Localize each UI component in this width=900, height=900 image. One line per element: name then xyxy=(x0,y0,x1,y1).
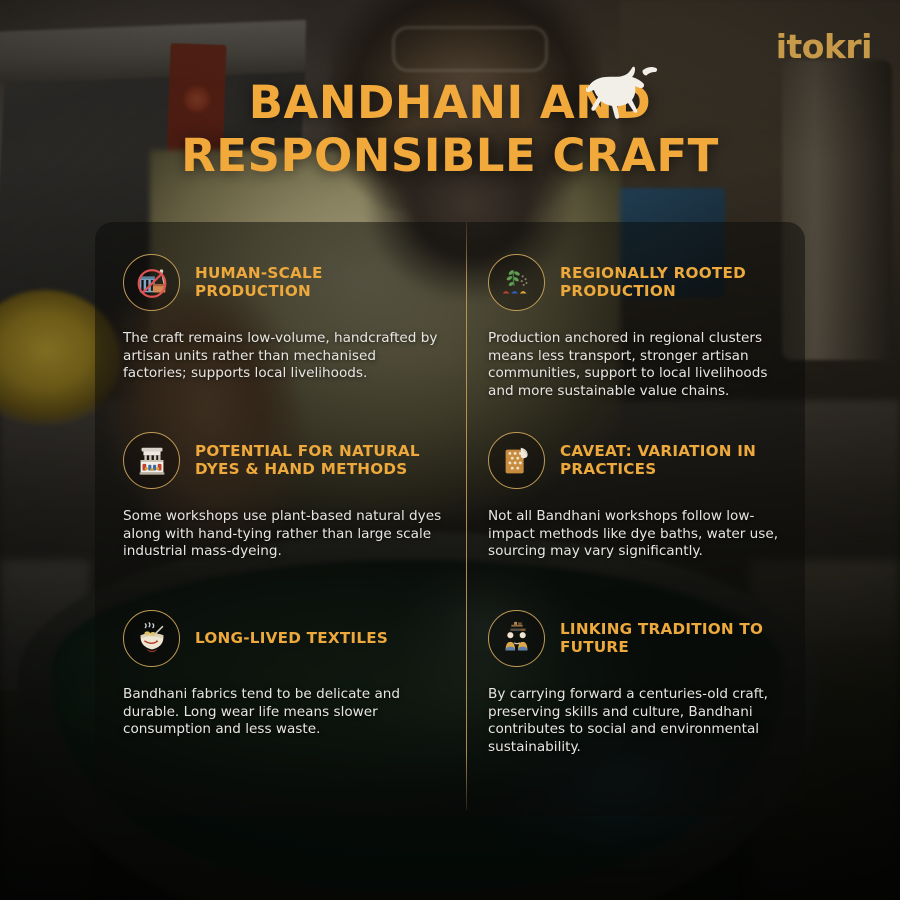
card-body: Not all Bandhani workshops follow low-im… xyxy=(488,508,785,561)
card-body: The craft remains low-volume, handcrafte… xyxy=(123,330,442,383)
page-title-line-1: BANDHANI AND xyxy=(249,76,652,129)
two-artisans-icon xyxy=(488,610,545,667)
card-header: LONG-LIVED TEXTILES xyxy=(123,610,442,667)
card-header: POTENTIAL FOR NATURAL DYES & HAND METHOD… xyxy=(123,432,442,489)
card-title: HUMAN-SCALE PRODUCTION xyxy=(195,265,442,301)
card-header: CAVEAT: VARIATION IN PRACTICES xyxy=(488,432,785,489)
card-body: Production anchored in regional clusters… xyxy=(488,330,785,401)
page-title-text: BANDHANI AND RESPONSIBLE CRAFT xyxy=(120,76,780,182)
brand-logo-text: itokri xyxy=(776,27,872,66)
card-long-lived-textiles[interactable]: LONG-LIVED TEXTILES Bandhani fabrics ten… xyxy=(95,578,466,816)
card-header: HUMAN-SCALE PRODUCTION xyxy=(123,254,442,311)
card-regionally-rooted-production[interactable]: REGIONALLY ROOTED PRODUCTION Production … xyxy=(466,222,805,400)
card-linking-tradition-to-future[interactable]: LINKING TRADITION TO FUTURE By carrying … xyxy=(466,578,805,816)
card-human-scale-production[interactable]: HUMAN-SCALE PRODUCTION The craft remains… xyxy=(95,222,466,400)
card-title: POTENTIAL FOR NATURAL DYES & HAND METHOD… xyxy=(195,443,442,479)
card-title: CAVEAT: VARIATION IN PRACTICES xyxy=(560,443,785,479)
card-caveat-variation-in-practices[interactable]: CAVEAT: VARIATION IN PRACTICES Not all B… xyxy=(466,400,805,578)
natural-dye-plants-icon xyxy=(488,254,545,311)
no-factory-icon xyxy=(123,254,180,311)
brand-logo[interactable]: itokri xyxy=(776,30,872,63)
card-potential-for-natural-dyes[interactable]: POTENTIAL FOR NATURAL DYES & HAND METHOD… xyxy=(95,400,466,578)
bandhani-fabric-swatch-icon xyxy=(488,432,545,489)
card-body: Some workshops use plant-based natural d… xyxy=(123,508,442,561)
workshop-building-icon xyxy=(123,432,180,489)
card-title: LINKING TRADITION TO FUTURE xyxy=(560,621,785,657)
card-body: By carrying forward a centuries-old craf… xyxy=(488,686,785,757)
card-title: LONG-LIVED TEXTILES xyxy=(195,630,388,648)
page-title-line-2: RESPONSIBLE CRAFT xyxy=(181,129,719,182)
card-body: Bandhani fabrics tend to be delicate and… xyxy=(123,686,442,739)
cards-grid: HUMAN-SCALE PRODUCTION The craft remains… xyxy=(95,222,805,816)
steaming-dye-pot-icon xyxy=(123,610,180,667)
infographic-canvas: itokri BANDHANI AND RESPONSIBLE CRAFT xyxy=(0,0,900,900)
card-header: REGIONALLY ROOTED PRODUCTION xyxy=(488,254,785,311)
card-header: LINKING TRADITION TO FUTURE xyxy=(488,610,785,667)
card-title: REGIONALLY ROOTED PRODUCTION xyxy=(560,265,785,301)
page-title: BANDHANI AND RESPONSIBLE CRAFT xyxy=(0,76,900,182)
